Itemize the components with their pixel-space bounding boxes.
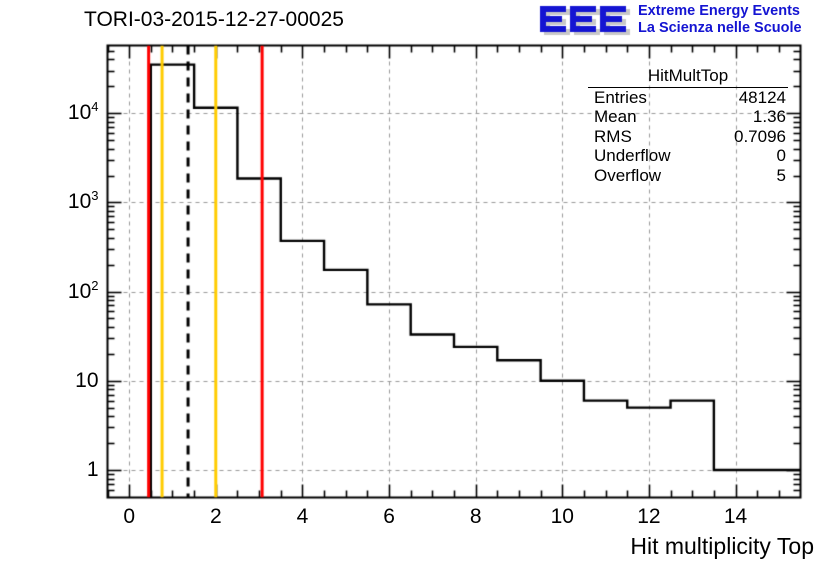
x-tick-label: 8 (446, 506, 506, 527)
x-tick-label: 10 (532, 506, 592, 527)
stats-value: 48124 (739, 88, 786, 108)
x-axis-title: Hit multiplicity Top (630, 533, 814, 559)
stats-key: Overflow (594, 166, 661, 186)
stats-row: RMS0.7096 (588, 127, 788, 147)
y-tick-label: 103 (68, 191, 99, 212)
eee-logo: Extreme Energy Events La Scienza nelle S… (538, 2, 832, 40)
logo-line-1: Extreme Energy Events (638, 3, 834, 20)
stats-row: Underflow0 (588, 146, 788, 166)
x-tick-label: 12 (619, 506, 679, 527)
y-tick-label: 104 (68, 102, 99, 123)
y-tick-label: 10 (75, 370, 98, 391)
stats-box: HitMultTop Entries48124Mean1.36RMS0.7096… (588, 66, 788, 185)
stats-key: RMS (594, 127, 632, 147)
stats-value: 1.36 (753, 107, 786, 127)
page-title: TORI-03-2015-12-27-00025 (84, 8, 344, 32)
stats-row: Entries48124 (588, 88, 788, 108)
stats-key: Entries (594, 88, 647, 108)
x-tick-label: 2 (186, 506, 246, 527)
stats-value: 5 (777, 166, 786, 186)
stats-key: Mean (594, 107, 637, 127)
eee-logo-text: Extreme Energy Events La Scienza nelle S… (638, 3, 834, 37)
stats-row: Mean1.36 (588, 107, 788, 127)
x-tick-label: 0 (99, 506, 159, 527)
logo-line-2: La Scienza nelle Scuole (638, 20, 834, 37)
stats-value: 0.7096 (734, 127, 786, 147)
stats-title: HitMultTop (588, 66, 788, 88)
stats-value: 0 (777, 146, 786, 166)
eee-logo-mark-icon (538, 4, 634, 36)
y-tick-label: 1 (87, 459, 99, 480)
x-tick-label: 14 (706, 506, 766, 527)
x-tick-label: 6 (359, 506, 419, 527)
x-tick-label: 4 (272, 506, 332, 527)
stats-rows: Entries48124Mean1.36RMS0.7096Underflow0O… (588, 88, 788, 186)
y-tick-label: 102 (68, 281, 99, 302)
stats-row: Overflow5 (588, 166, 788, 186)
stats-key: Underflow (594, 146, 671, 166)
